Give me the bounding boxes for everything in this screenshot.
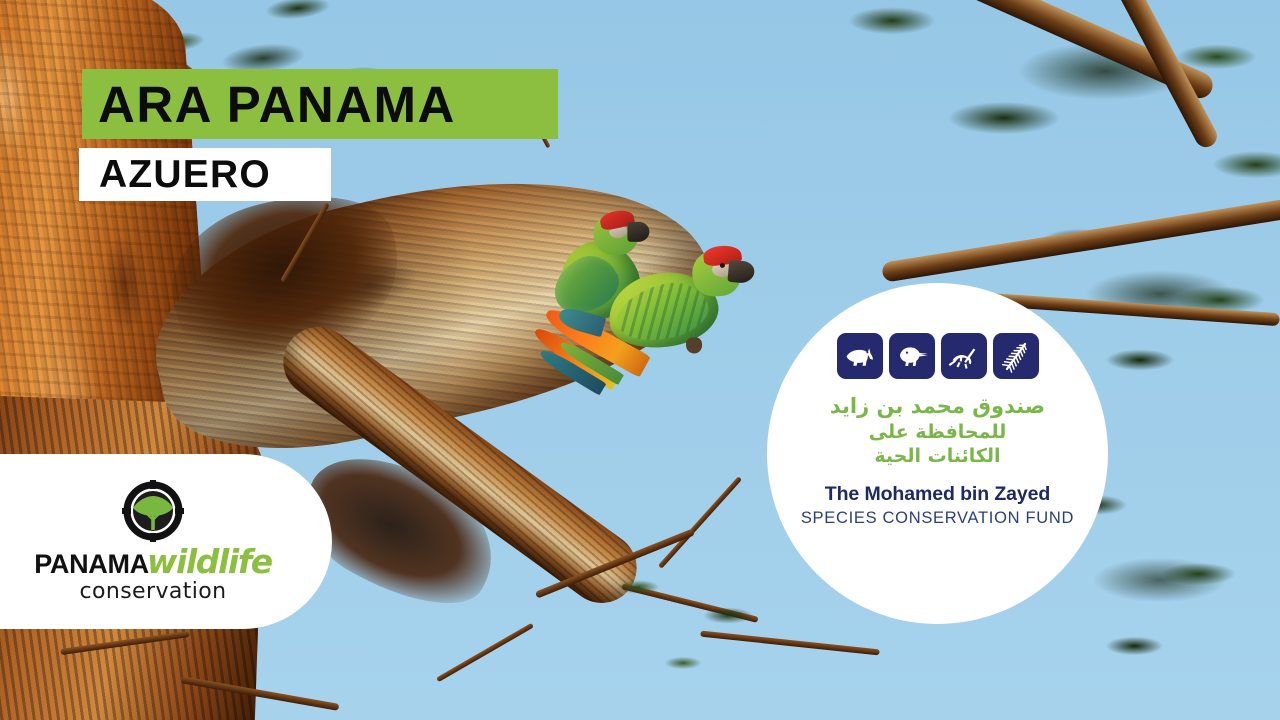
mohamed-bin-zayed-fund-logo: صندوق محمد بن زايد للمحافظة على الكائنات… [767,283,1108,624]
macaw-beak [627,222,649,242]
video-thumbnail-frame: ARA PANAMA AZUERO [0,0,1280,720]
panama-wildlife-conservation-logo: PANAMA wildlife conservation [0,454,332,629]
lizard-icon [941,333,987,379]
mbz-english-tagline: SPECIES CONSERVATION FUND [801,509,1074,528]
pwc-word-panama: PANAMA [34,551,149,578]
twig [436,623,534,682]
title-banner-primary: ARA PANAMA [82,69,558,139]
mbz-icon-row [837,333,1039,379]
macaw-foot [686,337,703,354]
fern-leaf-icon [993,333,1039,379]
macaw-front [605,242,761,370]
rhino-icon [837,333,883,379]
foliage-lower-middle [560,530,840,720]
mbz-english-name: The Mohamed bin Zayed [825,483,1050,506]
pwc-wordmark: PANAMA wildlife [34,545,272,578]
page-title: ARA PANAMA [82,79,456,130]
kiwi-bird-icon [889,333,935,379]
mbz-arabic-line-1: صندوق محمد بن زايد [830,393,1045,420]
mbz-arabic-line-3: الكائنات الحية [830,444,1045,468]
title-banner-secondary: AZUERO [79,148,331,201]
pwc-word-conservation: conservation [80,579,227,604]
macaw-beak [727,260,755,284]
tree-crosshair-icon [122,480,184,542]
mbz-arabic-name: صندوق محمد بن زايد للمحافظة على الكائنات… [830,393,1045,469]
mbz-arabic-line-2: للمحافظة على [830,420,1045,444]
page-subtitle: AZUERO [79,155,271,194]
pwc-word-wildlife: wildlife [147,545,272,578]
